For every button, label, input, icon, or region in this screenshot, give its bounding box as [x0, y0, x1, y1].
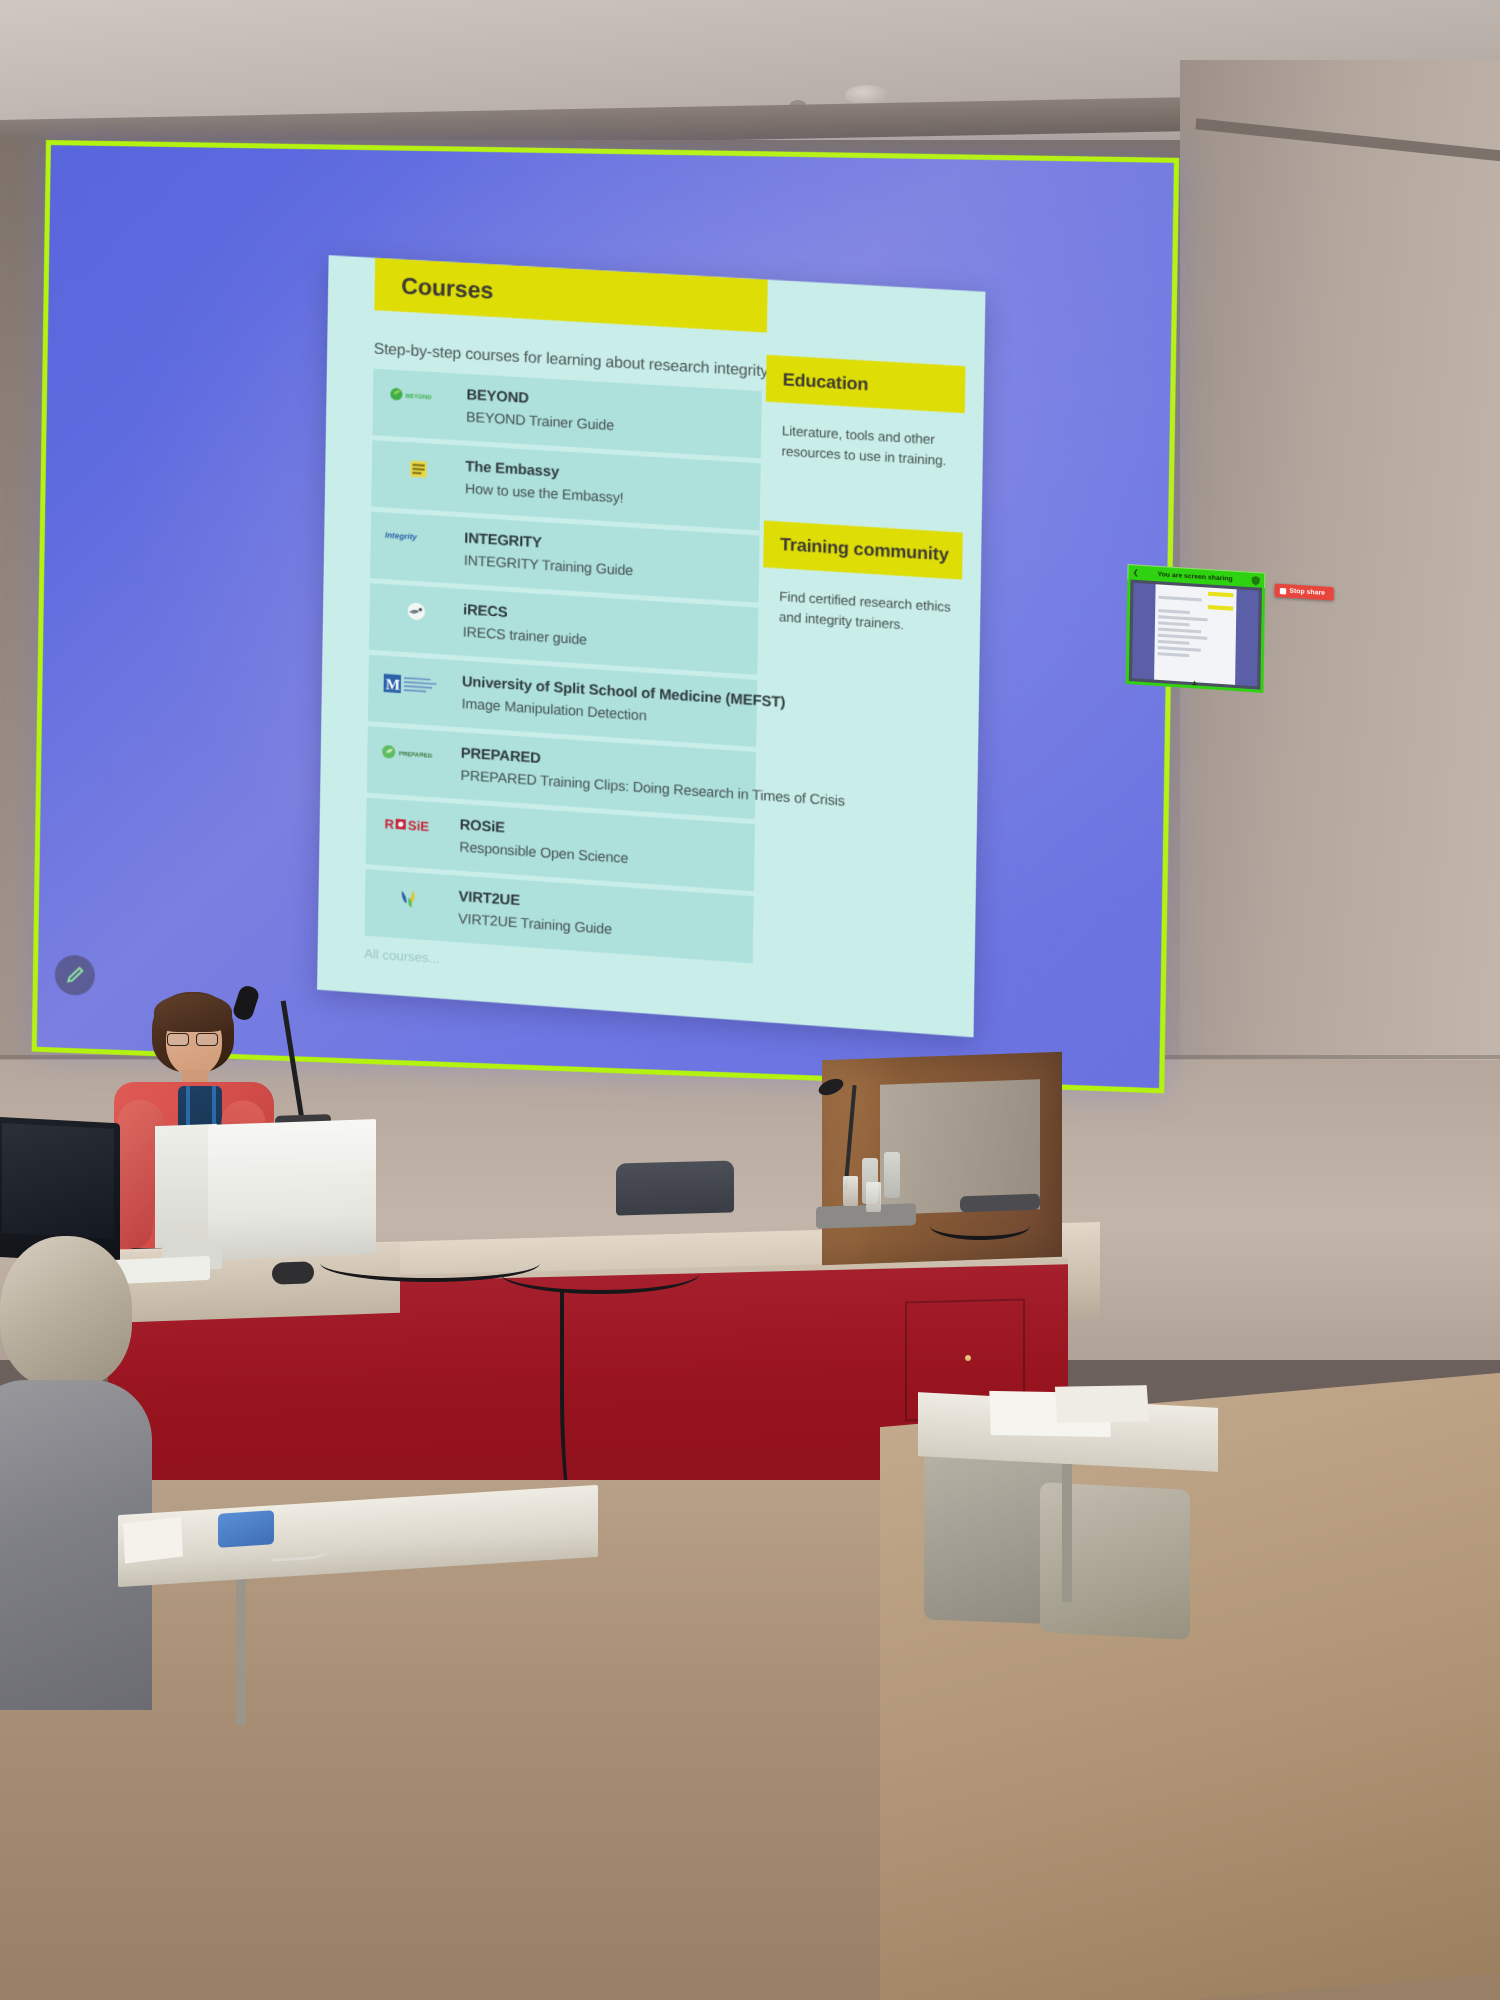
- thumbnail-row: [1159, 621, 1190, 626]
- sidebar-heading-label: Education: [783, 369, 869, 395]
- presenter-fringe: [154, 994, 232, 1032]
- svg-text:BEYOND: BEYOND: [405, 394, 432, 402]
- presenter-monitor-screen: [2, 1123, 114, 1239]
- audience-member-head: [0, 1236, 132, 1388]
- thumbnail-accent: [1208, 605, 1233, 611]
- shield-icon[interactable]: [1251, 575, 1260, 585]
- virt2ue-logo: [365, 879, 459, 914]
- drinking-glass: [843, 1176, 858, 1206]
- svg-text:M: M: [386, 677, 401, 694]
- embassy-logo: [372, 450, 466, 482]
- lecture-hall-scene: Courses Step-by-step courses for learnin…: [0, 0, 1500, 2000]
- page-title: Courses: [401, 272, 494, 304]
- rosie-logo: R SiE: [366, 808, 460, 838]
- caret-up-icon[interactable]: ▲: [1190, 678, 1198, 688]
- projection-screen: Courses Step-by-step courses for learnin…: [32, 140, 1180, 1093]
- paper-sheet: [1055, 1385, 1149, 1423]
- water-bottle: [884, 1152, 900, 1198]
- svg-text:Integrity: Integrity: [385, 531, 418, 542]
- stage-chair: [616, 1160, 734, 1215]
- thumbnail-row: [1159, 615, 1208, 621]
- equipment-box: [208, 1119, 376, 1260]
- paper-sheet: [123, 1517, 183, 1564]
- screen-share-overlay: ❮ You are screen sharing Stop share: [1126, 564, 1296, 703]
- thumbnail-row: [1158, 646, 1201, 652]
- shared-web-page: Courses Step-by-step courses for learnin…: [317, 255, 985, 1037]
- sidebar-heading-label: Training community: [780, 534, 949, 566]
- lectern-knob: [965, 1355, 971, 1361]
- svg-text:R: R: [384, 816, 394, 832]
- mefst-logo: M: [368, 665, 462, 699]
- thumbnail-row: [1158, 628, 1201, 634]
- floor-cable: [500, 1252, 700, 1294]
- stop-square-icon: [1280, 587, 1286, 594]
- audience-desk-leg: [1062, 1452, 1072, 1602]
- thumbnail-row: [1158, 640, 1189, 645]
- thumbnail-row: [1158, 652, 1189, 657]
- floor-cable: [930, 1212, 1030, 1240]
- svg-text:SiE: SiE: [408, 818, 430, 835]
- sidebar-spacer: [767, 280, 986, 368]
- thumbnail-row: [1158, 634, 1207, 640]
- svg-text:PREPARED: PREPARED: [399, 751, 433, 759]
- lectern-microphone-base: [960, 1194, 1040, 1213]
- presenter-glasses: [166, 1033, 222, 1046]
- drinking-glass: [866, 1182, 881, 1212]
- thumbnail-row: [1159, 609, 1190, 614]
- ceiling-vent: [845, 85, 889, 105]
- sidebar-training-community-body: Find certified research ethics and integ…: [762, 567, 981, 641]
- courses-column: Courses Step-by-step courses for learnin…: [317, 255, 768, 1021]
- audience-desk-leg: [236, 1565, 246, 1725]
- sidebar-column: Education Literature, tools and other re…: [756, 280, 986, 1038]
- course-list: BEYOND BEYOND BEYOND Trainer Guide: [364, 369, 765, 964]
- thumbnail-page: [1132, 583, 1259, 686]
- integrity-logo: Integrity: [371, 522, 465, 546]
- screen-share-thumbnail[interactable]: ▲: [1126, 579, 1265, 693]
- stop-share-button[interactable]: Stop share: [1274, 583, 1333, 600]
- beyond-logo: BEYOND: [373, 379, 467, 407]
- chevron-left-icon[interactable]: ❮: [1133, 568, 1139, 577]
- mouse[interactable]: [272, 1261, 314, 1284]
- irecs-logo: [370, 593, 464, 623]
- thumbnail-accent: [1208, 592, 1233, 598]
- stop-share-label: Stop share: [1289, 588, 1325, 597]
- thumbnail-row: [1159, 596, 1202, 602]
- thumbnail-sheet: [1155, 584, 1237, 685]
- prepared-logo: PREPARED: [367, 736, 461, 764]
- smartphone[interactable]: [218, 1510, 274, 1548]
